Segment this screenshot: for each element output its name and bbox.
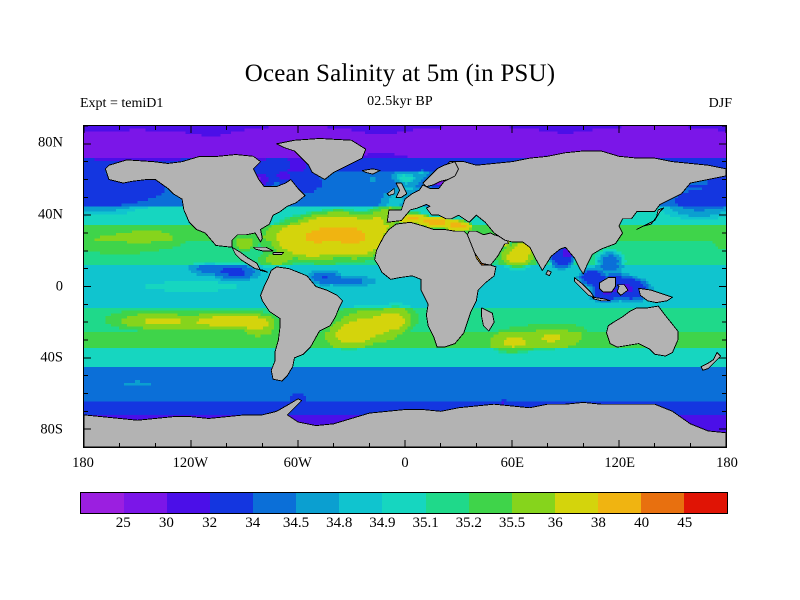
colorbar-band-1	[124, 493, 167, 513]
figure-root: Ocean Salinity at 5m (in PSU) 02.5kyr BP…	[0, 0, 800, 600]
experiment-label: Expt = temiD1	[80, 96, 163, 112]
colorbar	[80, 492, 728, 514]
lon-tick-2: 60W	[258, 455, 338, 472]
lon-tick-6: 180	[687, 455, 767, 472]
lat-tick-80S: 80S	[3, 422, 63, 439]
salinity-map	[84, 126, 726, 447]
lon-tick-4: 60E	[472, 455, 552, 472]
colorbar-band-0	[81, 493, 124, 513]
lat-tick-0: 0	[3, 278, 63, 295]
colorbar-band-3	[210, 493, 253, 513]
colorbar-band-13	[641, 493, 684, 513]
colorbar-band-2	[167, 493, 210, 513]
lon-tick-0: 180	[43, 455, 123, 472]
colorbar-band-12	[598, 493, 641, 513]
colorbar-band-6	[339, 493, 382, 513]
lon-tick-3: 0	[365, 455, 445, 472]
colorbar-band-11	[555, 493, 598, 513]
colorbar-tick-45: 45	[655, 515, 715, 532]
colorbar-band-5	[296, 493, 339, 513]
lat-tick-40S: 40S	[3, 350, 63, 367]
colorbar-band-14	[684, 493, 727, 513]
colorbar-band-10	[512, 493, 555, 513]
colorbar-band-9	[469, 493, 512, 513]
colorbar-band-4	[253, 493, 296, 513]
map-plot-area	[83, 125, 727, 448]
colorbar-tick-labels: 2530323434.534.834.935.135.235.536384045	[0, 515, 800, 539]
colorbar-band-8	[426, 493, 469, 513]
page-title: Ocean Salinity at 5m (in PSU)	[0, 60, 800, 88]
lat-tick-80N: 80N	[3, 134, 63, 151]
season-label: DJF	[709, 96, 732, 112]
colorbar-band-7	[382, 493, 425, 513]
lon-tick-1: 120W	[150, 455, 230, 472]
lat-tick-40N: 40N	[3, 206, 63, 223]
lon-tick-5: 120E	[580, 455, 660, 472]
